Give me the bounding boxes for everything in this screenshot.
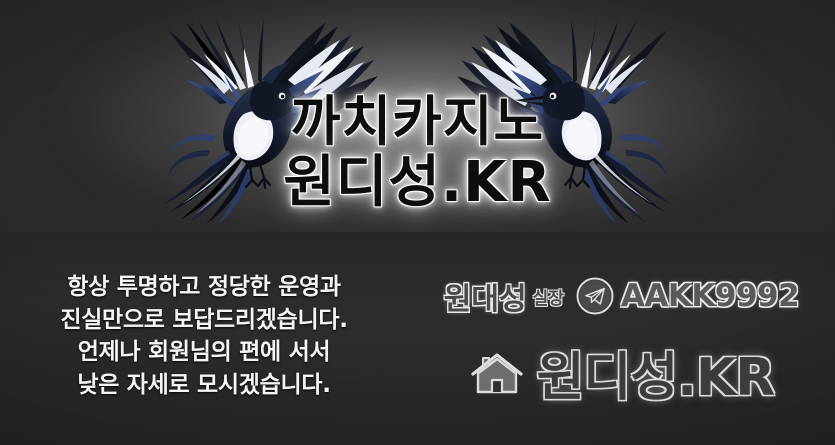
manager-name: 원대성 [444,274,527,318]
slogan-block: 항상 투명하고 정당한 운영과 진실만으로 보답드리겠습니다. 언제나 회원님의… [0,255,408,402]
telegram-id[interactable]: AAKK9992 [621,278,799,314]
slogan-line-2: 진실만으로 보답드리겠습니다. [0,304,408,337]
home-icon[interactable] [469,345,525,401]
contact-block: 원대성 실장 AAKK9992 [408,255,835,410]
telegram-contact-row[interactable]: 원대성 실장 AAKK9992 [444,273,799,319]
slogan-line-1: 항상 투명하고 정당한 운영과 [0,271,408,304]
slogan-line-4: 낮은 자세로 모시겠습니다. [0,369,408,402]
lower-content: 항상 투명하고 정당한 운영과 진실만으로 보답드리겠습니다. 언제나 회원님의… [0,255,835,445]
casino-promo-banner: 까치카지노 원디성.KR 항상 투명하고 정당한 운영과 진실만으로 보답드리겠… [0,0,835,445]
telegram-icon[interactable] [575,276,615,316]
slogan-line-3: 언제나 회원님의 편에 서서 [0,336,408,369]
brand-title-line-1: 까치카지노 [0,95,835,149]
magpie-illustration-right [423,8,723,223]
magpie-illustration-left [112,8,412,223]
brand-title-line-2: 원디성.KR [0,155,835,211]
manager-role: 실장 [533,284,564,309]
domain-name[interactable]: 원디성.KR [537,335,775,410]
background-glow [68,0,768,243]
brand-wordmark: 까치카지노 원디성.KR [0,95,835,211]
domain-row[interactable]: 원디성.KR [469,335,775,410]
